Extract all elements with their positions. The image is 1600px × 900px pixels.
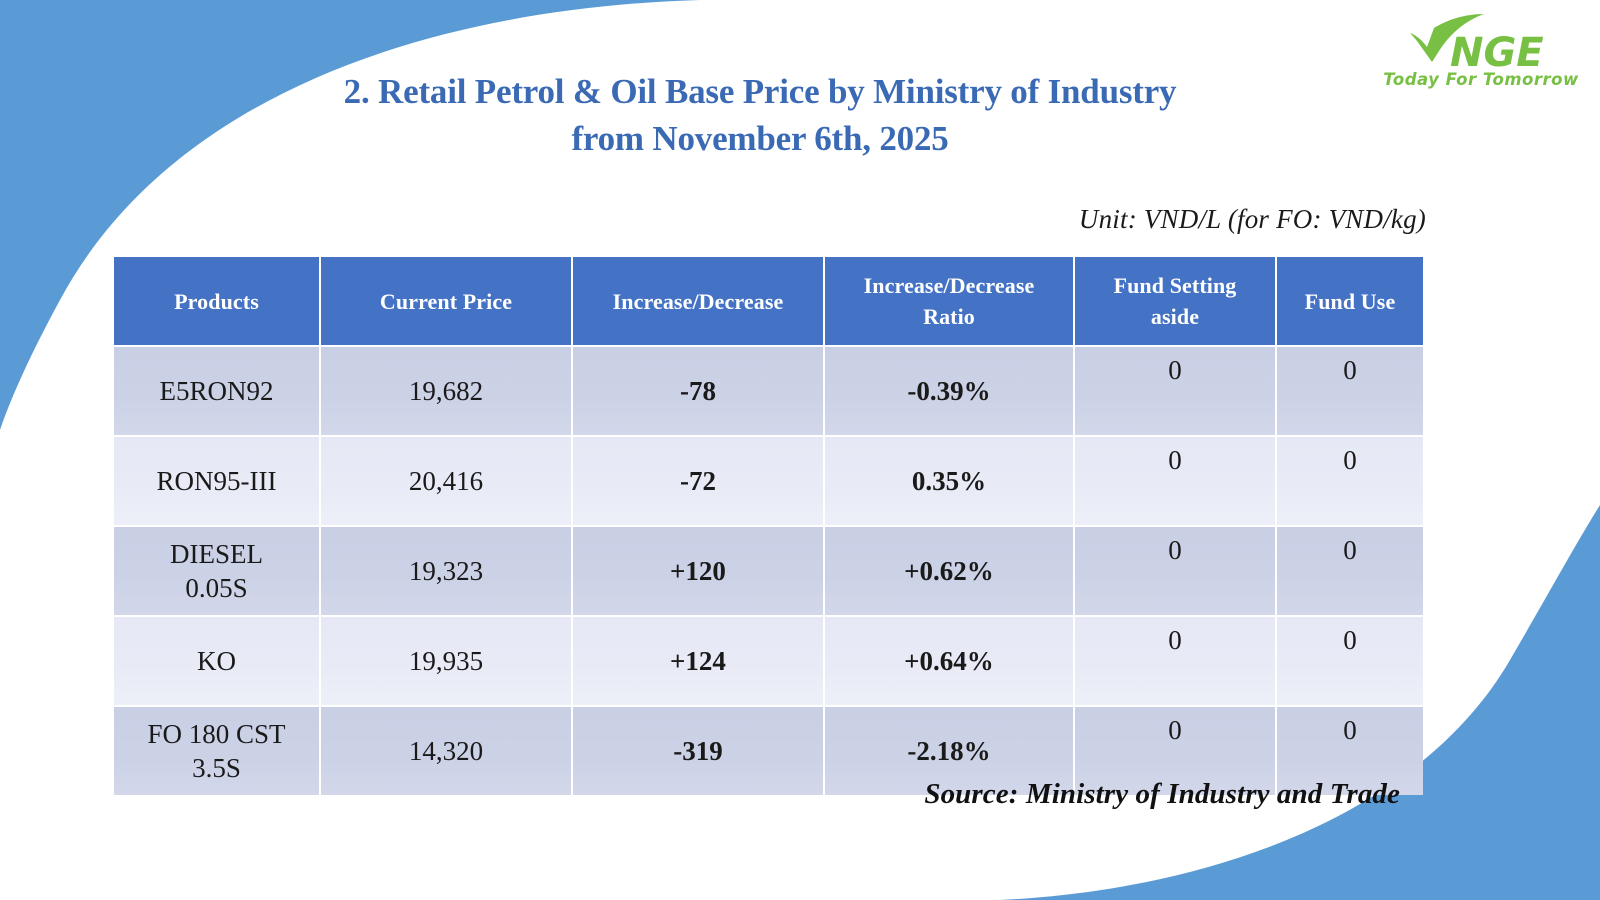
column-header-fund-set-line1: Fund Setting xyxy=(1114,273,1237,298)
column-header-fund-setting-aside: Fund Setting aside xyxy=(1075,257,1275,345)
cell-fund-setting-aside: 0 xyxy=(1075,437,1275,525)
cell-current-price: 19,323 xyxy=(321,527,571,615)
cell-increase-decrease-ratio: +0.62% xyxy=(825,527,1073,615)
source-note: Source: Ministry of Industry and Trade xyxy=(0,778,1400,811)
cell-product-line2: 0.05S xyxy=(114,571,319,605)
cell-increase-decrease-ratio: +0.64% xyxy=(825,617,1073,705)
cell-fund-use: 0 xyxy=(1277,437,1423,525)
column-header-products: Products xyxy=(114,257,319,345)
cell-increase-decrease-ratio: -0.39% xyxy=(825,347,1073,435)
cell-increase-decrease: -78 xyxy=(573,347,823,435)
cell-fund-use: 0 xyxy=(1277,347,1423,435)
cell-current-price: 20,416 xyxy=(321,437,571,525)
cell-increase-decrease: +124 xyxy=(573,617,823,705)
column-header-current-price: Current Price xyxy=(321,257,571,345)
slide-title-line2: from November 6th, 2025 xyxy=(120,115,1400,162)
column-header-increase-decrease: Increase/Decrease xyxy=(573,257,823,345)
table-row: E5RON92 19,682 -78 -0.39% 0 0 xyxy=(114,347,1423,435)
petrol-price-table: Products Current Price Increase/Decrease… xyxy=(112,255,1425,797)
table-header-row: Products Current Price Increase/Decrease… xyxy=(114,257,1423,345)
slide-title-line1: 2. Retail Petrol & Oil Base Price by Min… xyxy=(344,72,1177,111)
cell-increase-decrease: +120 xyxy=(573,527,823,615)
cell-product: DIESEL 0.05S xyxy=(114,527,319,615)
cell-product-line1: DIESEL xyxy=(114,537,319,571)
table-row: KO 19,935 +124 +0.64% 0 0 xyxy=(114,617,1423,705)
column-header-fund-use: Fund Use xyxy=(1277,257,1423,345)
column-header-fund-set-line2: aside xyxy=(1151,304,1199,329)
cell-product-line1: FO 180 CST xyxy=(114,717,319,751)
table-row: DIESEL 0.05S 19,323 +120 +0.62% 0 0 xyxy=(114,527,1423,615)
cell-fund-use: 0 xyxy=(1277,617,1423,705)
slide-title: 2. Retail Petrol & Oil Base Price by Min… xyxy=(120,68,1400,162)
vnge-logo-icon: NGE xyxy=(1372,14,1590,76)
column-header-ratio-line2: Ratio xyxy=(923,304,975,329)
cell-fund-setting-aside: 0 xyxy=(1075,347,1275,435)
cell-current-price: 19,935 xyxy=(321,617,571,705)
cell-fund-setting-aside: 0 xyxy=(1075,527,1275,615)
brand-logo: NGE Today For Tomorrow xyxy=(1372,14,1590,106)
logo-tagline: Today For Tomorrow xyxy=(1372,70,1590,89)
cell-product: KO xyxy=(114,617,319,705)
cell-increase-decrease: -72 xyxy=(573,437,823,525)
cell-product: RON95-III xyxy=(114,437,319,525)
column-header-increase-decrease-ratio: Increase/Decrease Ratio xyxy=(825,257,1073,345)
column-header-ratio-line1: Increase/Decrease xyxy=(864,273,1035,298)
table-row: RON95-III 20,416 -72 0.35% 0 0 xyxy=(114,437,1423,525)
cell-product: E5RON92 xyxy=(114,347,319,435)
cell-fund-use: 0 xyxy=(1277,527,1423,615)
cell-current-price: 19,682 xyxy=(321,347,571,435)
unit-note: Unit: VND/L (for FO: VND/kg) xyxy=(0,204,1426,235)
cell-fund-setting-aside: 0 xyxy=(1075,617,1275,705)
cell-increase-decrease-ratio: 0.35% xyxy=(825,437,1073,525)
